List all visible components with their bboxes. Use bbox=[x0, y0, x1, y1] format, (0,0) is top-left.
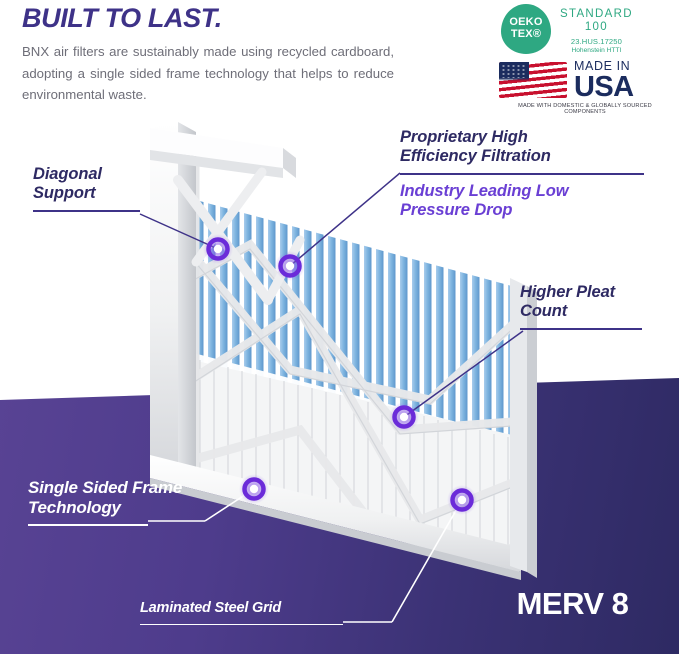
callout-pleat-line2: Count bbox=[520, 302, 679, 321]
callout-underline bbox=[520, 328, 642, 330]
callout-ssf-line2: Technology bbox=[28, 498, 298, 518]
header-block: BUILT TO LAST. BNX air filters are susta… bbox=[22, 4, 422, 105]
callout-lsg-line1: Laminated Steel Grid bbox=[140, 600, 355, 617]
certification-badges: OEKO TEX® STANDARD 100 23.HUS.17250 Hohe… bbox=[497, 2, 673, 110]
callout-diagonal-support-line1: Diagonal bbox=[33, 165, 213, 184]
marker-laminated-steel-grid[interactable] bbox=[447, 485, 477, 515]
marker-filtration[interactable] bbox=[275, 251, 305, 281]
oeko-line2: TEX® bbox=[511, 29, 541, 41]
marker-pleat-count[interactable] bbox=[389, 402, 419, 432]
oeko-tex-logo-icon: OEKO TEX® bbox=[501, 4, 551, 54]
oeko-institute: Hohenstein HTTI bbox=[560, 47, 633, 56]
infographic-canvas: BUILT TO LAST. BNX air filters are susta… bbox=[0, 0, 679, 654]
header-description: BNX air filters are sustainably made usi… bbox=[22, 41, 394, 105]
oeko-standard-label: STANDARD bbox=[560, 7, 633, 21]
oeko-standard-number: 100 bbox=[560, 21, 633, 33]
callout-filtration-line1: Proprietary High bbox=[400, 128, 650, 147]
oeko-tex-badge: OEKO TEX® STANDARD 100 23.HUS.17250 Hohe… bbox=[501, 4, 633, 56]
merv-rating-badge: MERV 8 bbox=[480, 588, 665, 619]
made-in-usa-badge: MADE IN USA MADE WITH DOMESTIC & GLOBALL… bbox=[499, 60, 671, 115]
callout-pleat-line1: Higher Pleat bbox=[520, 283, 679, 302]
callout-diagonal-support-line2: Support bbox=[33, 184, 213, 203]
callout-underline bbox=[140, 624, 343, 626]
oeko-certificate-code: 23.HUS.17250 bbox=[560, 37, 633, 47]
callout-underline bbox=[33, 210, 140, 212]
callout-proprietary-filtration: Proprietary High Efficiency Filtration I… bbox=[400, 128, 650, 220]
callout-diagonal-support: Diagonal Support bbox=[33, 165, 213, 212]
callout-filtration-line2: Efficiency Filtration bbox=[400, 147, 650, 166]
oeko-tex-text: STANDARD 100 23.HUS.17250 Hohenstein HTT… bbox=[560, 4, 633, 56]
callout-underline bbox=[28, 524, 148, 526]
callout-pressure-drop-line1: Industry Leading Low bbox=[400, 182, 650, 201]
callout-single-sided-frame: Single Sided Frame Technology bbox=[28, 478, 298, 526]
callout-laminated-steel-grid: Laminated Steel Grid bbox=[140, 600, 355, 625]
callout-higher-pleat-count: Higher Pleat Count bbox=[520, 283, 679, 330]
page-title: BUILT TO LAST. bbox=[22, 4, 422, 32]
marker-diagonal-support[interactable] bbox=[203, 234, 233, 264]
callout-pressure-drop-line2: Pressure Drop bbox=[400, 201, 650, 220]
callout-ssf-line1: Single Sided Frame bbox=[28, 478, 298, 498]
usa-label: USA bbox=[574, 74, 633, 101]
usa-fine-print: MADE WITH DOMESTIC & GLOBALLY SOURCED CO… bbox=[499, 103, 671, 115]
usa-flag-icon bbox=[499, 62, 567, 98]
